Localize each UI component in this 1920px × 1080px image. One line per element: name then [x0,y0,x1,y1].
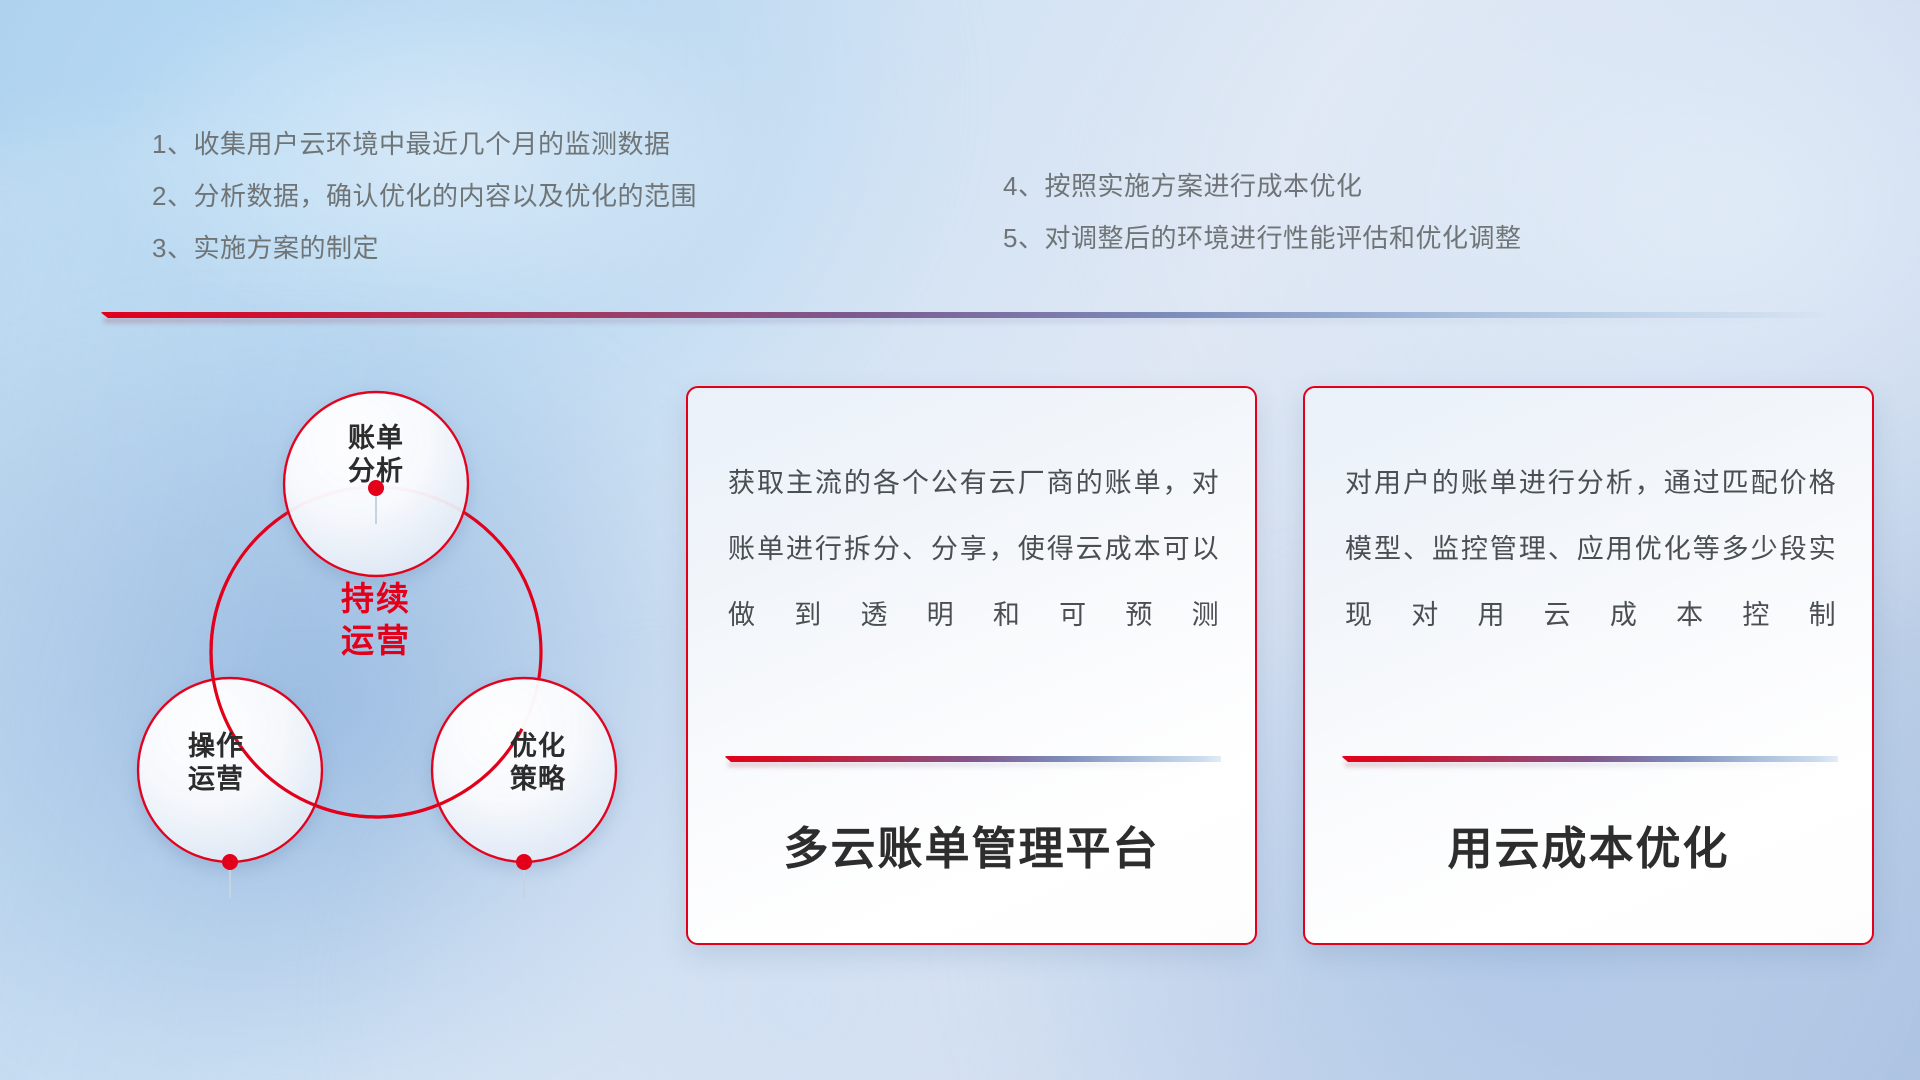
card-2-divider-line [1341,756,1838,762]
section-divider-line [100,312,1825,318]
card-2-divider-shadow [1345,762,1837,767]
section-divider-shadow [104,318,1812,323]
step-item-2: 2、分析数据，确认优化的内容以及优化的范围 [152,170,697,222]
card-cloud-cost-optimization[interactable]: 对用户的账单进行分析，通过匹配价格模型、监控管理、应用优化等多少段实现对用云成本… [1303,386,1874,945]
venn-diagram: 账单 分析 操作 运营 优化 策略 持续 运营 [96,352,656,952]
steps-column-left: 1、收集用户云环境中最近几个月的监测数据 2、分析数据，确认优化的内容以及优化的… [152,118,697,274]
card-1-title: 多云账单管理平台 [688,812,1255,877]
step-item-3: 3、实施方案的制定 [152,222,697,274]
card-1-body-text: 获取主流的各个公有云厂商的账单，对账单进行拆分、分享，使得云成本可以做到透明和可… [728,450,1219,648]
card-multi-cloud-billing-platform[interactable]: 获取主流的各个公有云厂商的账单，对账单进行拆分、分享，使得云成本可以做到透明和可… [686,386,1257,945]
section-divider [100,312,1825,324]
card-1-divider-line [724,756,1221,762]
venn-center-label: 持续 运营 [296,578,456,662]
card-2-title: 用云成本优化 [1305,812,1872,877]
step-item-5: 5、对调整后的环境进行性能评估和优化调整 [1003,212,1521,264]
venn-label-operation: 操作 运营 [136,730,296,796]
card-2-divider [1341,756,1838,768]
step-item-1: 1、收集用户云环境中最近几个月的监测数据 [152,118,697,170]
steps-column-right: 4、按照实施方案进行成本优化 5、对调整后的环境进行性能评估和优化调整 [1003,160,1521,264]
venn-dot-left [222,854,238,870]
venn-dot-right [516,854,532,870]
step-item-4: 4、按照实施方案进行成本优化 [1003,160,1521,212]
card-2-body-text: 对用户的账单进行分析，通过匹配价格模型、监控管理、应用优化等多少段实现对用云成本… [1345,450,1836,648]
venn-label-optimization: 优化 策略 [458,730,618,796]
card-1-divider [724,756,1221,768]
card-1-divider-shadow [728,762,1220,767]
venn-label-bill-analysis: 账单 分析 [296,422,456,488]
